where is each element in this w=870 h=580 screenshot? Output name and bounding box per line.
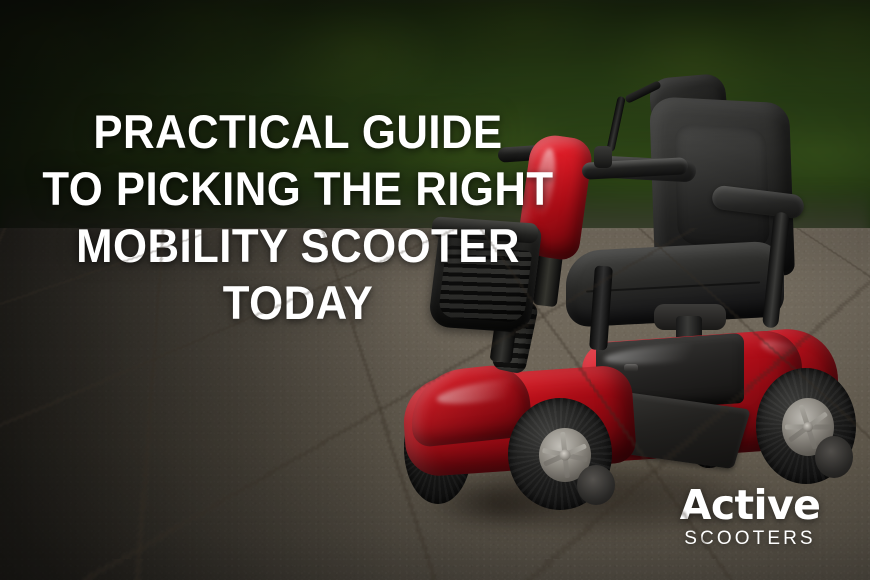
wheel-hub-cap [560, 450, 571, 461]
mirror-stem [606, 96, 625, 152]
promo-banner: PRACTICAL GUIDE TO PICKING THE RIGHT MOB… [0, 0, 870, 580]
front-right-wheel [508, 398, 612, 510]
rim-inner [577, 465, 615, 505]
rim-inner [815, 436, 853, 478]
basket-vent-slots [438, 245, 533, 323]
wheel-rim [782, 398, 834, 456]
mobility-scooter [0, 0, 870, 580]
wheel-hub-cap [803, 422, 813, 432]
rear-right-wheel [756, 368, 856, 484]
battery-latch [624, 364, 638, 372]
wheel-rim [539, 428, 591, 482]
throttle-control-knob [594, 146, 612, 168]
